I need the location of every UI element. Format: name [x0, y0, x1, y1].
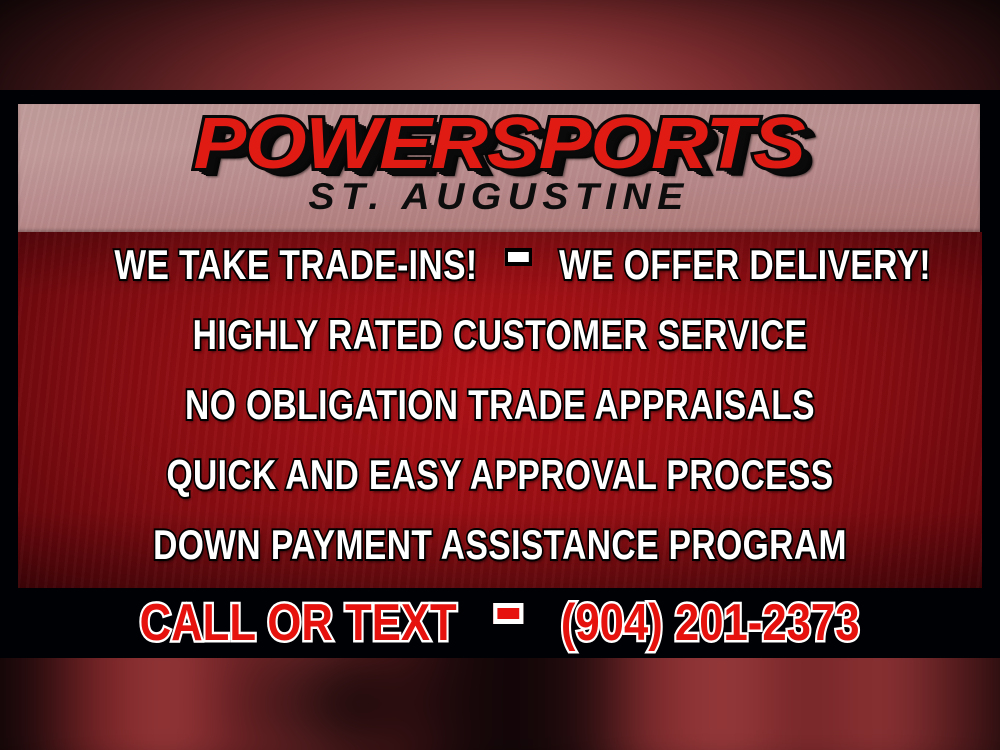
contact-footer: CALL OR TEXT(904) 201-2373	[0, 588, 1000, 658]
offer-line-4: QUICK AND EASY APPROVAL PROCESS	[114, 454, 885, 496]
advertisement-banner: POWERSPORTS ST. AUGUSTINE WE TAKE TRADE-…	[0, 0, 1000, 750]
offer-trade-ins: WE TAKE TRADE-INS!	[114, 241, 477, 288]
offers-panel: WE TAKE TRADE-INS!WE OFFER DELIVERY! HIG…	[18, 232, 982, 588]
logo-banner: POWERSPORTS ST. AUGUSTINE	[18, 104, 980, 232]
offers-list: WE TAKE TRADE-INS!WE OFFER DELIVERY! HIG…	[18, 232, 982, 566]
brand-location-subtitle: ST. AUGUSTINE	[18, 176, 980, 218]
phone-number[interactable]: (904) 201-2373	[561, 594, 860, 652]
footer-separator-dash-icon	[494, 603, 524, 624]
call-or-text-label: CALL OR TEXT	[140, 594, 457, 652]
offer-delivery: WE OFFER DELIVERY!	[559, 241, 931, 288]
separator-dash-icon	[505, 248, 532, 266]
ad-card: POWERSPORTS ST. AUGUSTINE WE TAKE TRADE-…	[0, 90, 1000, 658]
offer-line-5: DOWN PAYMENT ASSISTANCE PROGRAM	[114, 524, 885, 566]
contact-line: CALL OR TEXT(904) 201-2373	[140, 597, 860, 649]
offer-line-2: HIGHLY RATED CUSTOMER SERVICE	[114, 314, 885, 356]
offer-line-3: NO OBLIGATION TRADE APPRAISALS	[114, 384, 885, 426]
offer-line-1: WE TAKE TRADE-INS!WE OFFER DELIVERY!	[114, 244, 885, 286]
brand-wordmark: POWERSPORTS	[18, 108, 980, 180]
